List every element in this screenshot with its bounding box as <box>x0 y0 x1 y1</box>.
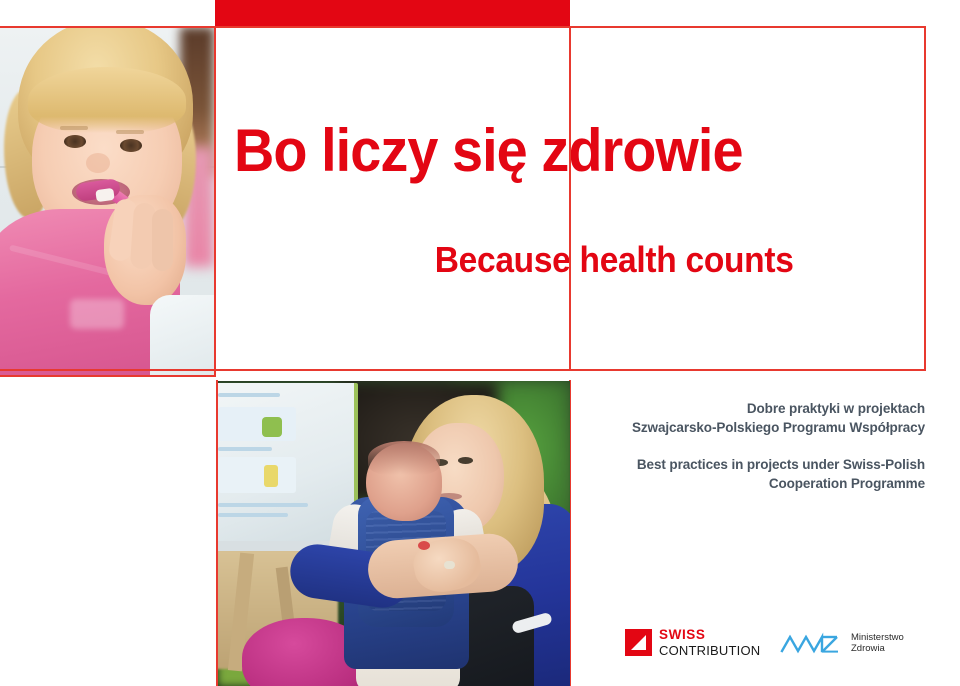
ministry-wordmark: Ministerstwo Zdrowia <box>851 632 904 655</box>
swiss-contribution-logo: SWISS CONTRIBUTION <box>625 628 760 657</box>
child-eye-left <box>64 135 86 148</box>
woman-fingernail <box>418 541 430 550</box>
monitor-text-line <box>218 447 272 451</box>
swiss-logo-line2: CONTRIBUTION <box>659 644 760 657</box>
woman-eye-right <box>458 457 473 464</box>
ministry-logo-line1: Ministerstwo <box>851 632 904 644</box>
subtitle-pl-line1: Dobre praktyki w projektach <box>595 399 925 418</box>
child-eyebrow-left <box>60 126 88 130</box>
subtitle-block: Dobre praktyki w projektach Szwajcarsko-… <box>595 399 925 493</box>
ministry-logo-line2: Zdrowia <box>851 643 904 655</box>
right-content-column: Dobre praktyki w projektach Szwajcarsko-… <box>575 381 960 686</box>
photo-child-brushing-teeth: Young blonde girl in a pink shirt brushi… <box>0 27 214 375</box>
subtitle-pl-line2: Szwajcarsko-Polskiego Programu Współprac… <box>595 418 925 437</box>
monitor-icon-green <box>262 417 282 437</box>
swiss-contribution-flag-icon <box>625 629 652 656</box>
monitor-content-card <box>218 407 296 441</box>
logo-row: SWISS CONTRIBUTION Ministerstwo Zdrowia <box>575 616 960 676</box>
monitor-content-card <box>218 457 296 493</box>
child-eye-right <box>120 139 142 152</box>
child-nose <box>86 153 110 173</box>
top-red-banner <box>215 0 570 26</box>
frame-line-left-vertical <box>214 26 216 377</box>
frame-line-middle-vertical <box>569 26 571 371</box>
ministry-of-health-logo: Ministerstwo Zdrowia <box>780 630 904 656</box>
subtitle-en-line1: Best practices in projects under Swiss-P… <box>595 455 925 474</box>
wedding-ring <box>444 561 455 569</box>
bathroom-sink <box>150 295 214 375</box>
monitor-text-line <box>218 503 308 507</box>
monitor-icon-yellow <box>264 465 278 487</box>
subtitle-en-line2: Cooperation Programme <box>595 474 925 493</box>
monitor-text-line <box>218 513 288 517</box>
shirt-print <box>70 299 124 329</box>
monitor-text-line <box>218 393 280 397</box>
page-title-en: Because health counts <box>280 241 894 279</box>
frame-line-bottom <box>0 369 926 371</box>
photo-mother-holding-baby: Blonde woman in a blue top holding a new… <box>218 381 570 686</box>
page-title-pl: Bo liczy się zdrowie <box>234 120 743 182</box>
frame-line-photo-bottom <box>0 375 215 377</box>
ministry-of-health-mz-icon <box>780 630 846 656</box>
child-finger <box>152 209 173 271</box>
baby-hair <box>368 441 440 475</box>
swiss-logo-line1: SWISS <box>659 628 760 642</box>
swiss-contribution-wordmark: SWISS CONTRIBUTION <box>659 628 760 657</box>
child-fringe <box>28 67 186 133</box>
child-eyebrow-right <box>116 130 144 134</box>
frame-line-right <box>924 26 926 371</box>
frame-line-top <box>0 26 926 28</box>
